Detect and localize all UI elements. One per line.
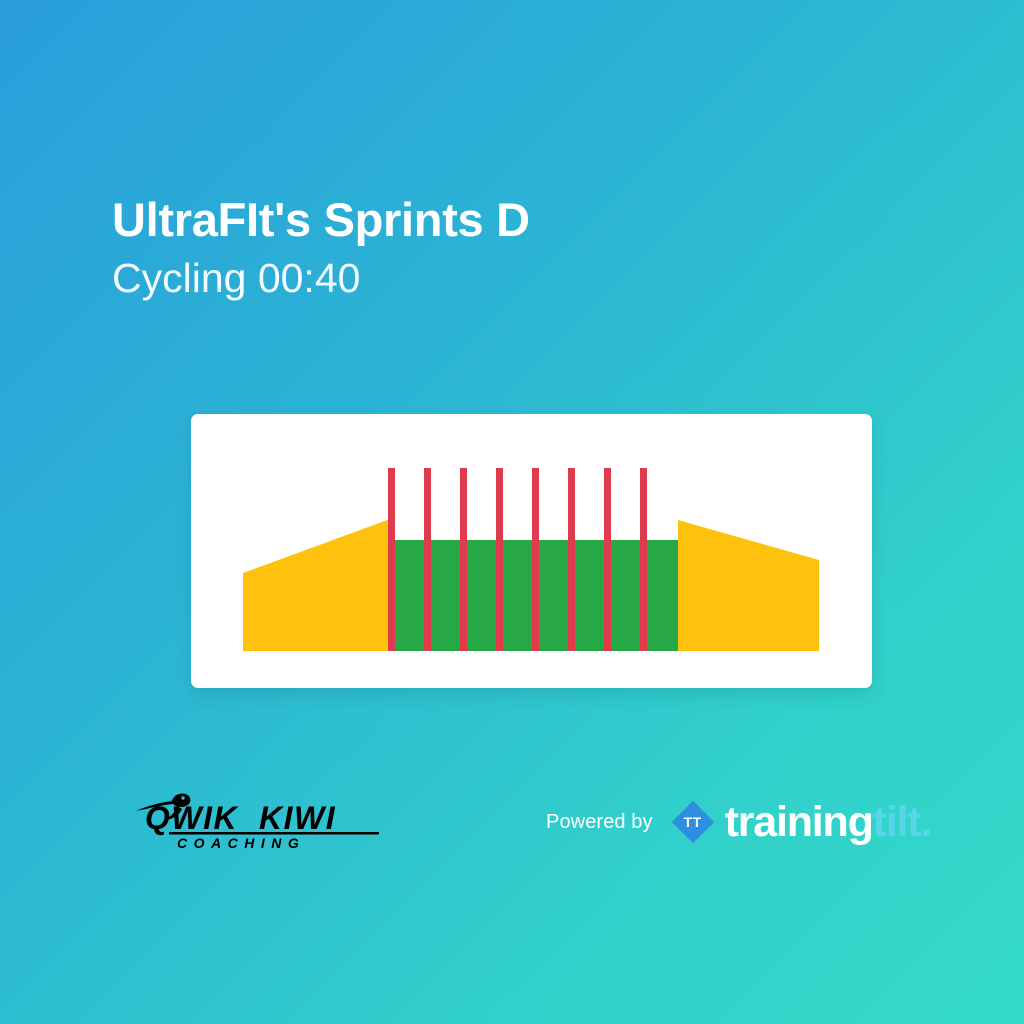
interval-8: [642, 540, 678, 651]
wordmark-tilt: tilt.: [873, 798, 931, 846]
interval-3: [462, 540, 498, 651]
sprint-7: [604, 468, 611, 651]
sprint-3: [460, 468, 467, 651]
sprint-6: [568, 468, 575, 651]
interval-2: [426, 540, 462, 651]
trainingtilt-wordmark: trainingtilt.: [725, 801, 932, 844]
workout-profile-svg: [243, 441, 819, 651]
svg-text:KIWI: KIWI: [259, 800, 336, 836]
powered-by-trainingtilt: Powered by TT trainingtilt.: [546, 798, 931, 846]
sprint-2: [424, 468, 431, 651]
qwik-kiwi-wordmark: QWIK KIWI: [145, 800, 336, 836]
sprint-8: [640, 468, 647, 651]
workout-chart: [243, 441, 819, 651]
interval-6: [570, 540, 606, 651]
footer: QWIK KIWI COACHING Powered by TT trainin…: [0, 790, 1024, 860]
interval-7: [606, 540, 642, 651]
powered-by-label: Powered by: [546, 811, 653, 834]
header: UltraFIt's Sprints D Cycling 00:40: [112, 192, 912, 303]
svg-text:QWIK: QWIK: [145, 800, 239, 836]
sprint-5: [532, 468, 539, 651]
sprint-4: [496, 468, 503, 651]
workout-chart-card: [191, 414, 872, 688]
interval-1: [390, 540, 426, 651]
coaching-wordmark: COACHING: [177, 835, 305, 851]
wordmark-training: training: [725, 798, 873, 846]
interval-5: [534, 540, 570, 651]
page-title: UltraFIt's Sprints D: [112, 192, 912, 247]
workout-subtitle: Cycling 00:40: [112, 255, 912, 302]
tt-monogram: TT: [671, 800, 715, 844]
interval-4: [498, 540, 534, 651]
workout-poster: UltraFIt's Sprints D Cycling 00:40 QWIK: [0, 0, 1024, 1024]
warmup-ramp: [243, 519, 390, 651]
sprint-1: [388, 468, 395, 651]
cooldown-ramp: [678, 520, 819, 651]
trainingtilt-diamond-icon: TT: [671, 800, 715, 844]
qwik-kiwi-logo-svg: QWIK KIWI COACHING: [131, 790, 401, 852]
qwik-kiwi-coaching-logo: QWIK KIWI COACHING: [131, 790, 401, 852]
